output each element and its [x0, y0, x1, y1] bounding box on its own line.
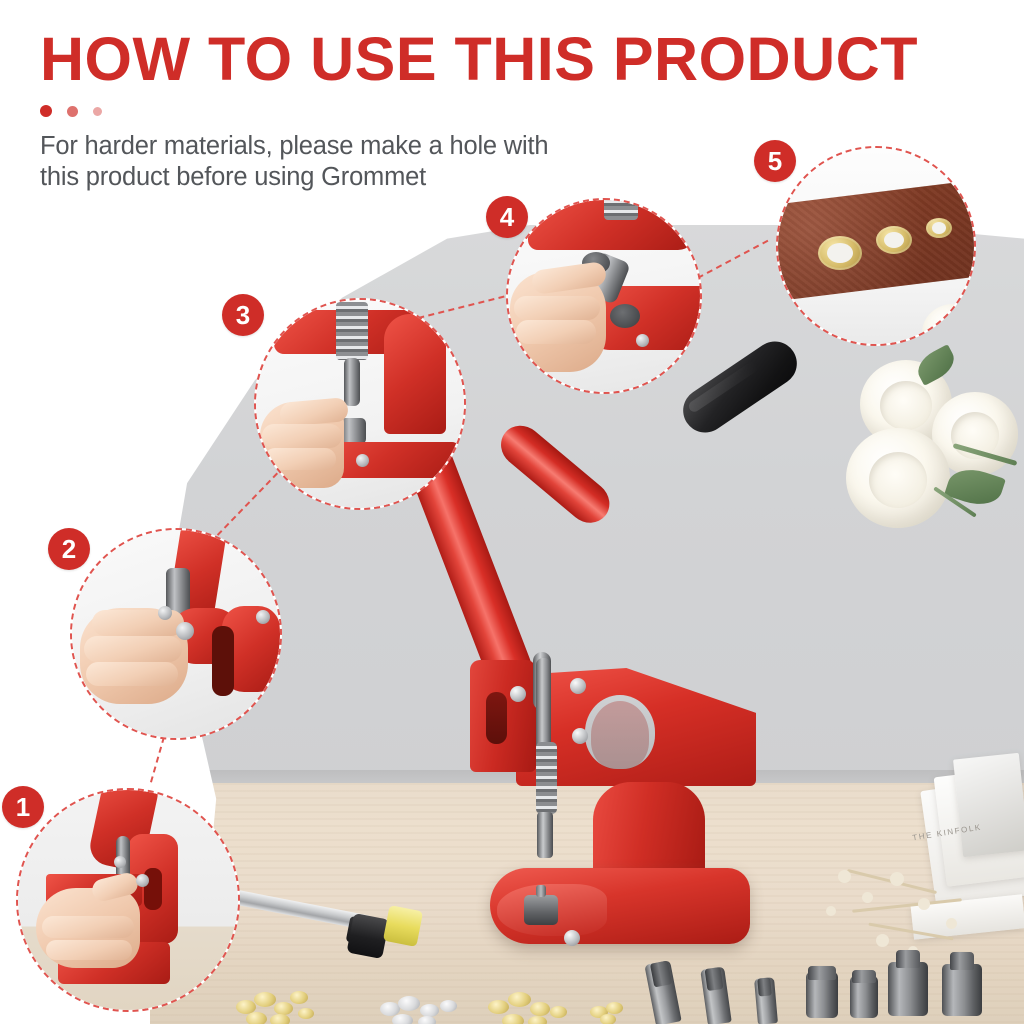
grommet-icon [606, 1002, 623, 1014]
dot-separator [40, 105, 880, 117]
step-3-photo [256, 300, 464, 508]
grommet-icon [530, 1002, 550, 1016]
grommet-icon [528, 1016, 547, 1024]
flower-icon [838, 870, 851, 883]
gold-grommet-pile-1 [232, 986, 342, 1024]
punch-tip [705, 967, 724, 991]
gold-grommet-pile-3 [588, 1000, 648, 1024]
step-4-badge: 4 [486, 196, 528, 238]
grommet-icon [298, 1008, 314, 1019]
step-4-photo [508, 200, 700, 392]
page-title: HOW TO USE THIS PRODUCT [40, 26, 880, 92]
grommet-large [818, 236, 862, 270]
grommet-icon [488, 1000, 509, 1014]
die-cap [808, 966, 836, 980]
gold-grommet-pile-2 [486, 988, 596, 1024]
ram-spring [536, 742, 557, 814]
flower-icon [876, 934, 889, 947]
infographic-canvas: THE KINFOLK [0, 0, 1024, 1024]
header: HOW TO USE THIS PRODUCT For harder mater… [40, 26, 880, 193]
die-set-4 [942, 964, 982, 1016]
step-5-badge: 5 [754, 140, 796, 182]
step-4-callout[interactable] [506, 198, 702, 394]
lower-die [524, 895, 558, 925]
bolt-icon [570, 678, 586, 694]
step-2-badge: 2 [48, 528, 90, 570]
grommet-icon [550, 1006, 567, 1018]
grommet-icon [392, 1014, 413, 1024]
step-1-photo [18, 790, 238, 1010]
grommet-icon [418, 1016, 436, 1024]
die-set-3 [888, 962, 928, 1016]
flower-icon [918, 898, 930, 910]
step-1-badge: 1 [2, 786, 44, 828]
grommet-icon [420, 1004, 439, 1017]
bolt-icon [564, 930, 580, 946]
step-3-callout[interactable] [254, 298, 466, 510]
throat-opening [585, 695, 655, 769]
bolt-icon [510, 686, 526, 702]
grommet-icon [290, 991, 308, 1004]
grommet-icon [246, 1012, 267, 1024]
die-cap [852, 970, 876, 983]
punch-tip [757, 977, 772, 996]
ram-lower-shaft [537, 812, 553, 858]
grommet-icon [274, 1002, 293, 1015]
flower-icon [946, 918, 957, 929]
grommet-icon [508, 992, 531, 1007]
grommet-icon [270, 1014, 290, 1024]
flower-icon [826, 906, 836, 916]
die-cap [950, 952, 974, 970]
flower-icon [890, 872, 904, 886]
page-subtitle: For harder materials, please make a hole… [40, 131, 560, 193]
flower-icon [862, 892, 873, 903]
grommet-icon [254, 992, 276, 1007]
grommet-icon [600, 1014, 616, 1024]
grommet-icon [440, 1000, 457, 1012]
die-cap [896, 950, 920, 968]
grommet-icon [502, 1014, 524, 1024]
book-top-cover [953, 753, 1024, 857]
step-1-callout[interactable] [16, 788, 240, 1012]
grommet-medium [876, 226, 912, 254]
grommet-icon [398, 996, 420, 1011]
step-2-callout[interactable] [70, 528, 282, 740]
mallet-head-nylon [383, 905, 423, 947]
yoke-slot [486, 692, 507, 744]
step-2-photo [72, 530, 280, 738]
dot-3-icon [93, 107, 102, 116]
dot-2-icon [67, 106, 78, 117]
grommet-small [926, 218, 952, 238]
rose-icon [846, 428, 950, 528]
support-column [593, 782, 705, 882]
silver-grommet-pile [378, 992, 488, 1024]
dot-1-icon [40, 105, 52, 117]
step-3-badge: 3 [222, 294, 264, 336]
bolt-icon [572, 728, 588, 744]
